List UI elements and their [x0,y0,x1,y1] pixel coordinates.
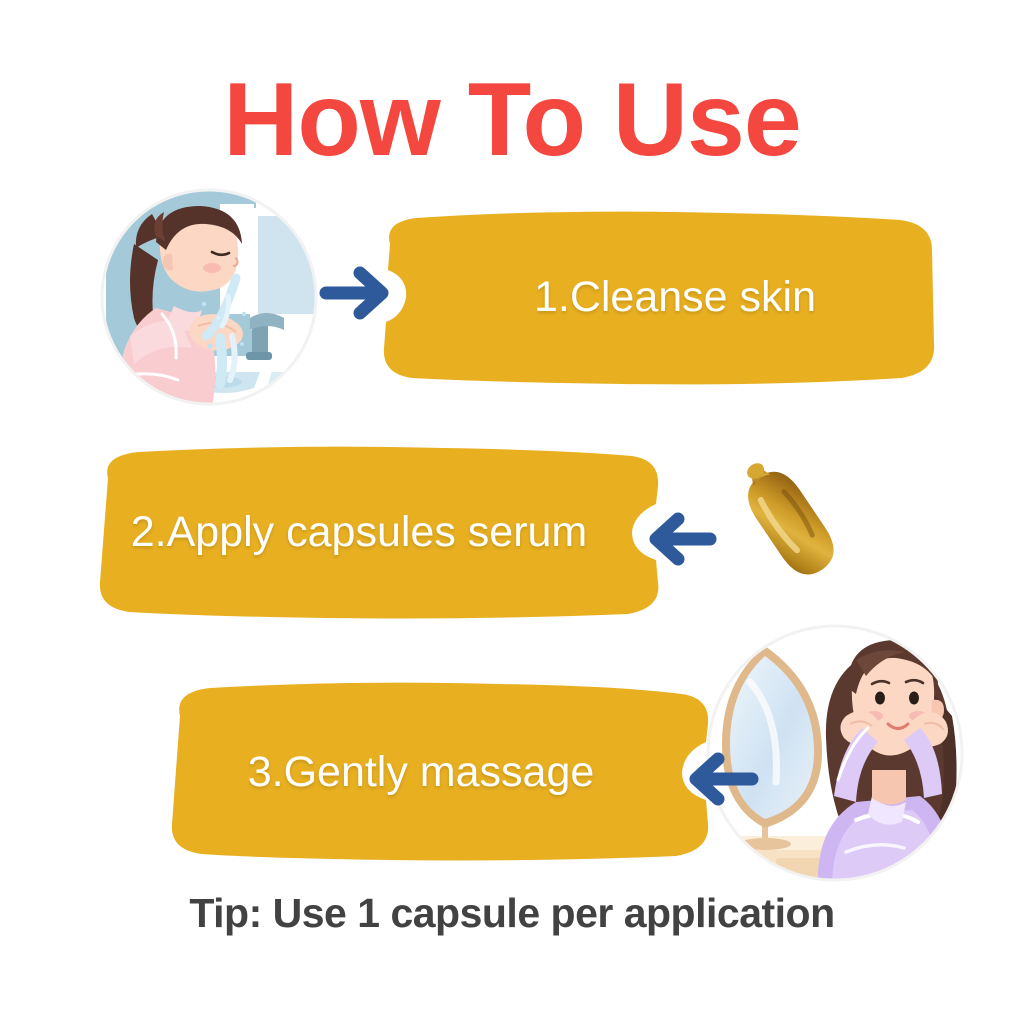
golden-serum-capsule-icon [708,448,868,590]
arrow-left-icon [686,748,760,810]
step-2-label: 2.Apply capsules serum [84,508,668,557]
page-title: How To Use [0,68,1024,172]
how-to-use-poster: How To Use [0,0,1024,1024]
woman-washing-face-icon [100,186,318,408]
arrow-left-icon [648,508,718,570]
step-3-banner[interactable]: 3.Gently massage [158,680,714,864]
arrow-right-icon [318,262,394,324]
tip-text: Tip: Use 1 capsule per application [0,890,1024,937]
step-2-banner[interactable]: 2.Apply capsules serum [84,444,668,620]
step-1-label: 1.Cleanse skin [372,273,938,322]
step-3-label: 3.Gently massage [158,748,714,797]
step-1-banner[interactable]: 1.Cleanse skin [372,206,938,388]
